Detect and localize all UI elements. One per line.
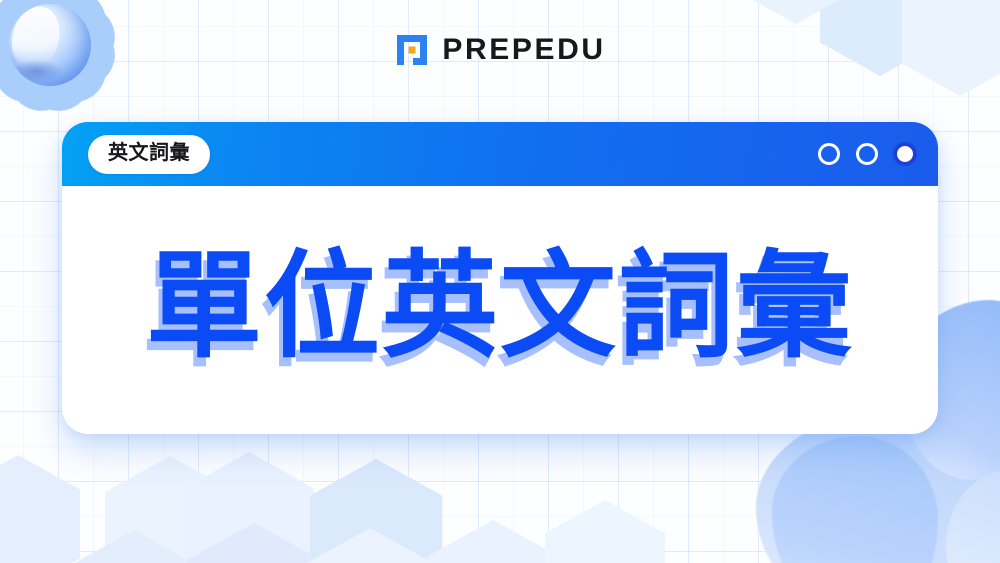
window-dot-minimize[interactable] [818,143,840,165]
wave-blob-near [772,436,938,563]
hexagon-bottom-center-2 [310,459,442,563]
hexagon-bottom-center-3 [305,528,435,563]
window-dot-close[interactable] [894,143,916,165]
card-header-bar: 英文詞彙 [62,122,938,186]
card-body: 單位英文詞彙 [62,186,938,434]
hexagon-bottom-left-2 [105,456,235,563]
window-dot-maximize[interactable] [856,143,878,165]
window-controls [818,143,916,165]
hexagon-bottom-center-5 [545,500,665,563]
prepedu-logo-icon [394,32,430,68]
brand-logo: PREPEDU [0,32,1000,68]
hexagon-bottom-center-1 [187,523,321,563]
category-tag[interactable]: 英文詞彙 [88,135,210,174]
content-card: 英文詞彙 單位英文詞彙 [62,122,938,434]
page-title: 單位英文詞彙 [146,248,854,372]
brand-name: PREPEDU [442,35,605,65]
hexagon-bottom-left-1 [0,455,80,563]
hexagon-bottom-left-3 [70,530,198,563]
hexagon-bottom-left-4 [184,452,314,563]
slide-canvas: PREPEDU 英文詞彙 單位英文詞彙 [0,0,1000,563]
hexagon-top-right-3 [742,0,850,24]
wave-blob-edge [946,470,1000,563]
hexagon-bottom-center-4 [428,520,558,563]
